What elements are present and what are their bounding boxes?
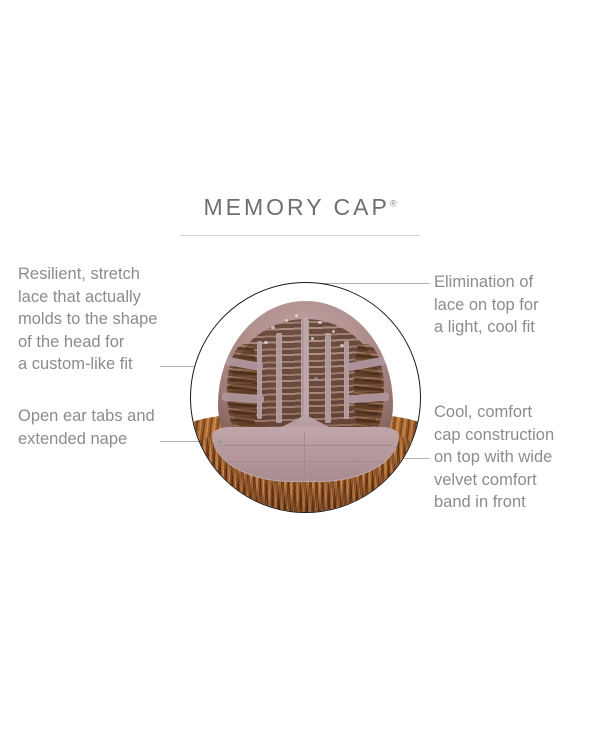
callout-comfort-line-3: on top with wide <box>434 446 554 469</box>
title-divider <box>180 235 420 236</box>
page-title-label: MEMORY CAP <box>204 194 390 220</box>
lace-rib-2 <box>276 333 282 422</box>
crown-seam <box>304 317 309 417</box>
velvet-seam <box>219 445 392 446</box>
callout-comfort-line-2: cap construction <box>434 424 554 447</box>
page-title-text: MEMORY CAP® <box>204 196 397 219</box>
callout-elimination: Elimination of lace on top for a light, … <box>434 271 539 339</box>
mesh-speckle <box>311 337 314 340</box>
callout-elimination-line-3: a light, cool fit <box>434 316 539 339</box>
diagram-canvas: MEMORY CAP® Resilient, stretch lace that… <box>0 0 600 750</box>
page-title: MEMORY CAP® <box>0 196 600 220</box>
callout-lace-line-3: molds to the shape <box>18 308 157 331</box>
wig-cap-photo <box>190 282 421 513</box>
callout-ear-tabs-line-1: Open ear tabs and <box>18 405 155 428</box>
lace-rib-4 <box>325 333 331 422</box>
velvet-seam <box>227 461 385 462</box>
callout-elimination-line-1: Elimination of <box>434 271 539 294</box>
callout-elimination-line-2: lace on top for <box>434 294 539 317</box>
callout-lace: Resilient, stretch lace that actually mo… <box>18 263 157 376</box>
mesh-speckle <box>264 341 268 344</box>
mesh-speckle <box>295 314 298 317</box>
mesh-speckle <box>285 319 288 322</box>
callout-comfort-line-5: band in front <box>434 491 554 514</box>
anchor-dot-comfort <box>356 457 360 461</box>
lace-rib-5 <box>344 341 350 420</box>
callout-ear-tabs: Open ear tabs and extended nape <box>18 405 155 450</box>
callout-comfort-line-4: velvet comfort <box>434 469 554 492</box>
callout-lace-line-5: a custom-like fit <box>18 353 157 376</box>
callout-lace-line-2: lace that actually <box>18 286 157 309</box>
lace-rib-1 <box>257 341 263 420</box>
mesh-speckle <box>332 330 335 333</box>
wig-cap-illustration <box>191 283 420 512</box>
callout-comfort: Cool, comfort cap construction on top wi… <box>434 401 554 514</box>
callout-lace-line-1: Resilient, stretch <box>18 263 157 286</box>
callout-ear-tabs-line-2: extended nape <box>18 428 155 451</box>
velvet-seam <box>304 431 305 478</box>
callout-comfort-line-1: Cool, comfort <box>434 401 554 424</box>
anchor-dot-elimination <box>314 377 318 381</box>
mesh-speckle <box>318 321 322 324</box>
callout-lace-line-4: of the head for <box>18 331 157 354</box>
registered-trademark-icon: ® <box>390 198 397 208</box>
